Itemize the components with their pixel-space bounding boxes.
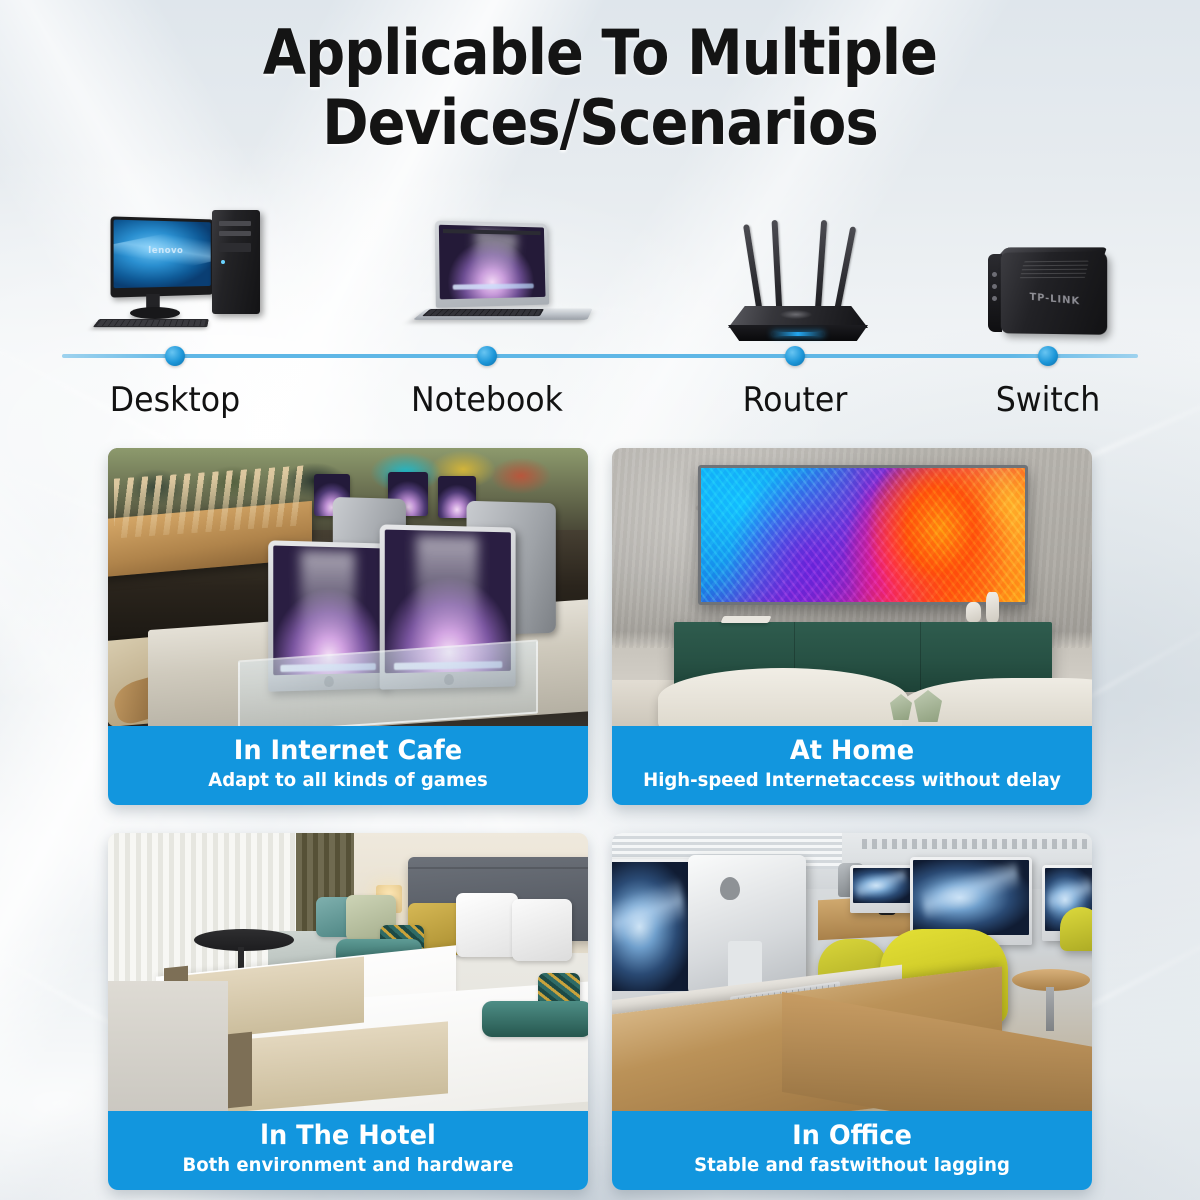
monitor-base [130, 307, 180, 319]
led-icon [992, 284, 997, 289]
scenario-card-grid: In Internet Cafe Adapt to all kinds of g… [108, 448, 1092, 1190]
office-desks-photo [612, 833, 1092, 1111]
device-illustration-row: lenovo [0, 170, 1200, 350]
led-icon [992, 296, 997, 301]
menu-bar [443, 229, 541, 235]
switch-brand-logo: TP-LINK [1030, 292, 1081, 308]
scenario-card-at-home[interactable]: At Home High-speed Internetaccess withou… [612, 448, 1092, 805]
monitor-body: lenovo [111, 216, 214, 297]
page-title: Applicable To Multiple Devices/Scenarios [0, 18, 1200, 158]
antenna-icon [815, 220, 827, 312]
timeline-dot-icon [477, 346, 497, 366]
bed-pillow [512, 899, 572, 961]
decor-vase [966, 602, 981, 622]
scenario-subtitle: High-speed Internetaccess without delay [632, 768, 1073, 792]
imac-screen [853, 868, 911, 903]
antenna-icon [743, 224, 763, 314]
timeline-dot-icon [165, 346, 185, 366]
switch-body: TP-LINK [1001, 251, 1107, 335]
office-stool [1012, 969, 1090, 991]
router-led-strip-icon [772, 332, 824, 336]
apple-logo-icon [720, 877, 740, 900]
laptop-screen [439, 225, 546, 300]
keyboard-icon [93, 319, 209, 327]
led-icon [992, 272, 997, 277]
round-table [194, 929, 294, 951]
scenario-title: At Home [632, 735, 1073, 767]
pc-tower [212, 210, 260, 314]
scenario-caption-office: In Office Stable and fastwithout lagging [612, 1111, 1092, 1190]
antenna-icon [834, 226, 857, 314]
vent-grille-icon [1020, 261, 1089, 280]
scenario-subtitle: Both environment and hardware [128, 1153, 569, 1177]
cabinet-seam [920, 622, 921, 692]
drive-bay [219, 221, 251, 226]
wall-mounted-tv [698, 465, 1028, 605]
router-logo [780, 310, 812, 319]
dock-bar [453, 283, 533, 289]
monitor-brand-logo: lenovo [148, 246, 183, 256]
office-chair [1060, 907, 1092, 951]
power-led-icon [221, 260, 225, 264]
scenario-card-office[interactable]: In Office Stable and fastwithout lagging [612, 833, 1092, 1190]
imac-screen [913, 860, 1029, 935]
laptop-keyboard [422, 309, 544, 316]
office-imac [612, 859, 694, 1001]
scenario-title: In Internet Cafe [128, 735, 569, 767]
drive-bay [219, 243, 251, 252]
decor-vase [986, 592, 999, 622]
scenario-subtitle: Adapt to all kinds of games [128, 768, 569, 792]
background-imac [850, 865, 914, 913]
laptop-lid [435, 221, 549, 308]
scenario-subtitle: Stable and fastwithout lagging [632, 1153, 1073, 1177]
scenario-caption-internet-cafe: In Internet Cafe Adapt to all kinds of g… [108, 726, 588, 805]
hotel-carpet [108, 981, 228, 1111]
tv-remote [720, 616, 771, 623]
living-room-tv-photo [612, 448, 1092, 726]
coffee-table [658, 668, 908, 726]
monitor-screen: lenovo [114, 220, 211, 289]
bed-runner-edge [228, 1032, 252, 1109]
bolster-pillow [482, 1001, 588, 1037]
internet-cafe-photo [108, 448, 588, 726]
scenario-card-row: In Internet Cafe Adapt to all kinds of g… [108, 448, 1092, 805]
timeline-dot-icon [1038, 346, 1058, 366]
scenario-card-internet-cafe[interactable]: In Internet Cafe Adapt to all kinds of g… [108, 448, 588, 805]
scenario-title: ln The Hotel [128, 1120, 569, 1152]
wifi-router-icon [722, 220, 872, 350]
drive-bay [219, 231, 251, 236]
scenario-caption-at-home: At Home High-speed Internetaccess withou… [612, 726, 1092, 805]
scenario-card-row: ln The Hotel Both environment and hardwa… [108, 833, 1092, 1190]
bed-pillow [456, 893, 518, 957]
imac-screen [612, 862, 691, 991]
network-switch-icon: TP-LINK [985, 220, 1125, 350]
tv-screen-artwork [701, 468, 1025, 602]
antenna-icon [772, 220, 783, 314]
scenario-title: In Office [632, 1120, 1073, 1152]
hotel-room-photo [108, 833, 588, 1111]
laptop-icon [412, 220, 602, 350]
timeline-node-switch[interactable]: Switch [748, 340, 1200, 420]
timeline-label-switch: Switch [769, 380, 1200, 420]
page-title-line-1: Applicable To Multiple [60, 18, 1140, 88]
scenario-card-hotel[interactable]: ln The Hotel Both environment and hardwa… [108, 833, 588, 1190]
device-timeline: Desktop Notebook Router Switch [0, 340, 1200, 430]
switch-led-indicators [992, 272, 997, 308]
imac-rear-panel [688, 855, 806, 995]
scenario-caption-hotel: ln The Hotel Both environment and hardwa… [108, 1111, 588, 1190]
page-title-line-2: Devices/Scenarios [60, 88, 1140, 158]
desktop-computer-icon: lenovo [92, 210, 272, 350]
